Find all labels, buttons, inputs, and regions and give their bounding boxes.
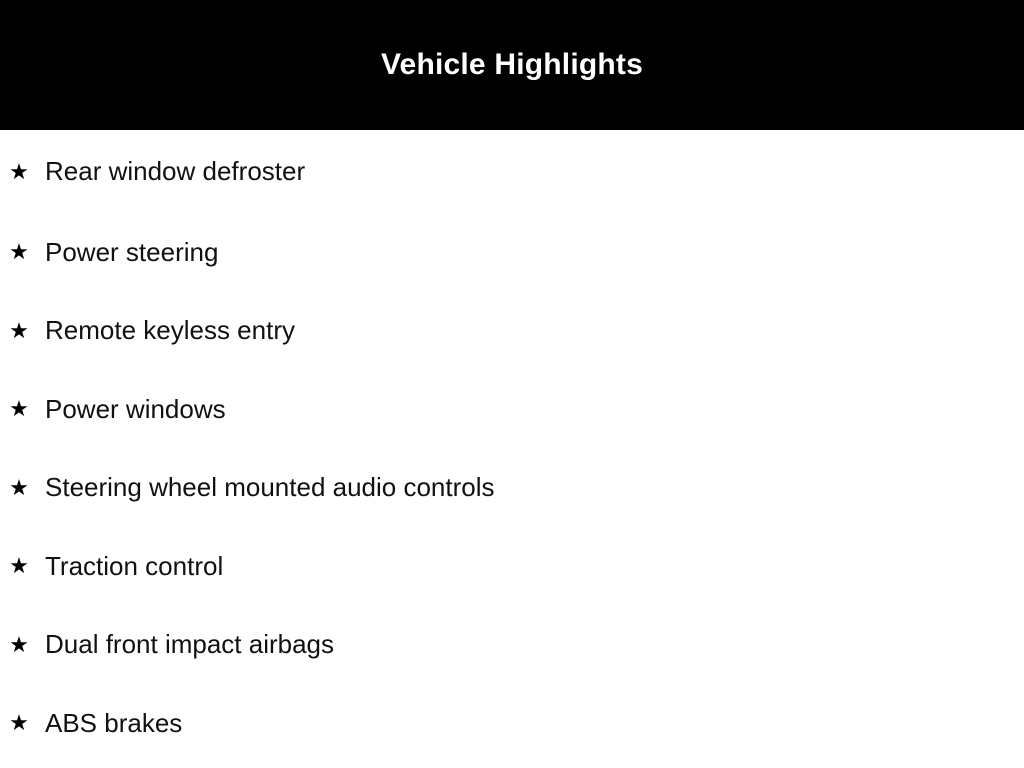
- feature-label: Rear window defroster: [45, 157, 1024, 186]
- list-item: ★ Rear window defroster: [0, 130, 1024, 213]
- star-icon: ★: [9, 241, 29, 263]
- list-item: ★ Power steering: [0, 213, 1024, 292]
- star-icon: ★: [9, 161, 29, 183]
- list-item: ★ Steering wheel mounted audio controls: [0, 449, 1024, 528]
- feature-label: Power windows: [45, 395, 1024, 424]
- feature-label: Power steering: [45, 238, 1024, 267]
- list-item: ★ Dual front impact airbags: [0, 606, 1024, 685]
- list-item: ★ Remote keyless entry: [0, 292, 1024, 371]
- star-icon: ★: [9, 712, 29, 734]
- feature-label: Remote keyless entry: [45, 316, 1024, 345]
- feature-label: ABS brakes: [45, 709, 1024, 738]
- vehicle-highlights-list: ★ Rear window defroster ★ Power steering…: [0, 130, 1024, 763]
- list-item: ★ Traction control: [0, 527, 1024, 606]
- feature-label: Dual front impact airbags: [45, 630, 1024, 659]
- vehicle-highlights-page: Vehicle Highlights ★ Rear window defrost…: [0, 0, 1024, 768]
- list-item: ★ ABS brakes: [0, 684, 1024, 763]
- header-banner: Vehicle Highlights: [0, 0, 1024, 130]
- feature-label: Steering wheel mounted audio controls: [45, 473, 1024, 502]
- list-item: ★ Power windows: [0, 370, 1024, 449]
- feature-label: Traction control: [45, 552, 1024, 581]
- star-icon: ★: [9, 477, 29, 499]
- star-icon: ★: [9, 320, 29, 342]
- star-icon: ★: [9, 555, 29, 577]
- features-section: ★ Rear window defroster ★ Power steering…: [0, 130, 1024, 768]
- star-icon: ★: [9, 398, 29, 420]
- star-icon: ★: [9, 634, 29, 656]
- page-title: Vehicle Highlights: [381, 50, 643, 80]
